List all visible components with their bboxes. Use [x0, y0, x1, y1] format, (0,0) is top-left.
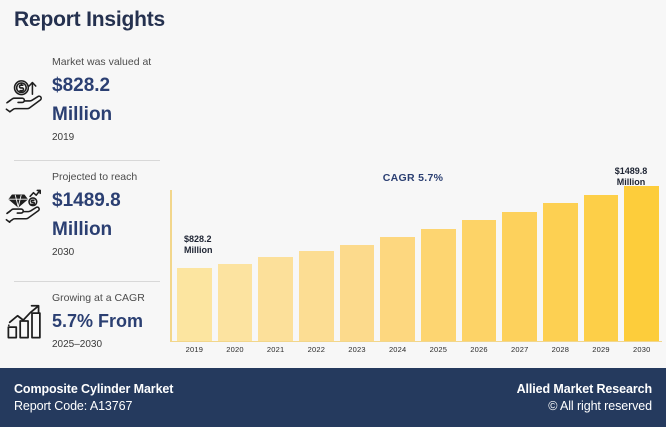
- x-label-2020: 2020: [218, 345, 253, 361]
- stats-column: Market was valued at $828.2 Million 2019: [0, 52, 160, 367]
- bar-2027: [502, 212, 537, 341]
- x-label-2022: 2022: [299, 345, 334, 361]
- x-label-2021: 2021: [258, 345, 293, 361]
- chart-cagr-annotation: CAGR 5.7%: [160, 172, 666, 184]
- bar-slot: [543, 186, 578, 341]
- stat-caption: Projected to reach: [52, 171, 154, 184]
- bar-2028: [543, 203, 578, 341]
- x-axis-labels: 2019202020212022202320242025202620272028…: [174, 345, 662, 361]
- bar-2026: [462, 220, 497, 341]
- stat-caption: Market was valued at: [52, 56, 154, 69]
- hand-holding-diamond-icon: [4, 183, 48, 227]
- x-label-2029: 2029: [584, 345, 619, 361]
- stat-block-projected-reach: Projected to reach $1489.8 Million 2030: [0, 161, 160, 281]
- stat-value-line1: 5.7% From: [52, 309, 154, 334]
- stat-subtext: 2030: [52, 247, 154, 258]
- peak-value: $1489.8: [600, 166, 662, 177]
- bar-2019: [177, 268, 212, 341]
- x-label-2027: 2027: [502, 345, 537, 361]
- bar-2025: [421, 229, 456, 341]
- stat-caption: Growing at a CAGR: [52, 292, 154, 305]
- x-label-2028: 2028: [543, 345, 578, 361]
- x-label-2023: 2023: [340, 345, 375, 361]
- bar-2020: [218, 264, 253, 342]
- bar-slot: [502, 186, 537, 341]
- growth-bar-chart-icon: [4, 300, 48, 344]
- x-label-2030: 2030: [624, 345, 659, 361]
- report-name: Composite Cylinder Market: [14, 381, 173, 398]
- x-axis-line: [170, 341, 662, 343]
- x-label-2019: 2019: [177, 345, 212, 361]
- report-insights-infographic: Report Insights Market was valued at $82…: [0, 0, 666, 427]
- bar-slot: [624, 186, 659, 341]
- footer-left: Composite Cylinder Market Report Code: A…: [14, 381, 173, 415]
- stat-subtext: 2025–2030: [52, 339, 154, 350]
- bar-slot: [340, 186, 375, 341]
- bar-slot: [584, 186, 619, 341]
- y-axis-line: [170, 190, 172, 341]
- stat-value-line2: Million: [52, 217, 154, 242]
- x-label-2024: 2024: [380, 345, 415, 361]
- bar-slot: [462, 186, 497, 341]
- chart-peak-annotation: $1489.8 Million: [600, 166, 662, 188]
- report-code: Report Code: A13767: [14, 398, 173, 415]
- bar-slot: [258, 186, 293, 341]
- chart-plot-area: [174, 186, 662, 341]
- bar-slot: [421, 186, 456, 341]
- bar-slot: [380, 186, 415, 341]
- stat-block-cagr: Growing at a CAGR 5.7% From 2025–2030: [0, 282, 160, 362]
- bar-2023: [340, 245, 375, 341]
- copyright-text: © All right reserved: [517, 398, 652, 415]
- bar-slot: [299, 186, 334, 341]
- bar-2029: [584, 195, 619, 341]
- bar-slot: [177, 186, 212, 341]
- hand-holding-dollar-icon: [4, 74, 48, 118]
- footer-right: Allied Market Research © All right reser…: [517, 381, 652, 415]
- stat-subtext: 2019: [52, 132, 154, 143]
- stat-value-line1: $1489.8: [52, 188, 154, 213]
- x-label-2026: 2026: [462, 345, 497, 361]
- bar-2021: [258, 257, 293, 341]
- footer: Composite Cylinder Market Report Code: A…: [0, 368, 666, 427]
- bar-2022: [299, 251, 334, 341]
- bar-chart: CAGR 5.7% $1489.8 Million $828.2 Million…: [160, 160, 666, 367]
- stat-value-line1: $828.2: [52, 73, 154, 98]
- x-label-2025: 2025: [421, 345, 456, 361]
- bar-2030: [624, 186, 659, 341]
- company-name: Allied Market Research: [517, 381, 652, 398]
- stat-block-market-valued: Market was valued at $828.2 Million 2019: [0, 52, 160, 160]
- page-title: Report Insights: [14, 8, 165, 32]
- bar-2024: [380, 237, 415, 341]
- stat-value-line2: Million: [52, 102, 154, 127]
- bar-slot: [218, 186, 253, 341]
